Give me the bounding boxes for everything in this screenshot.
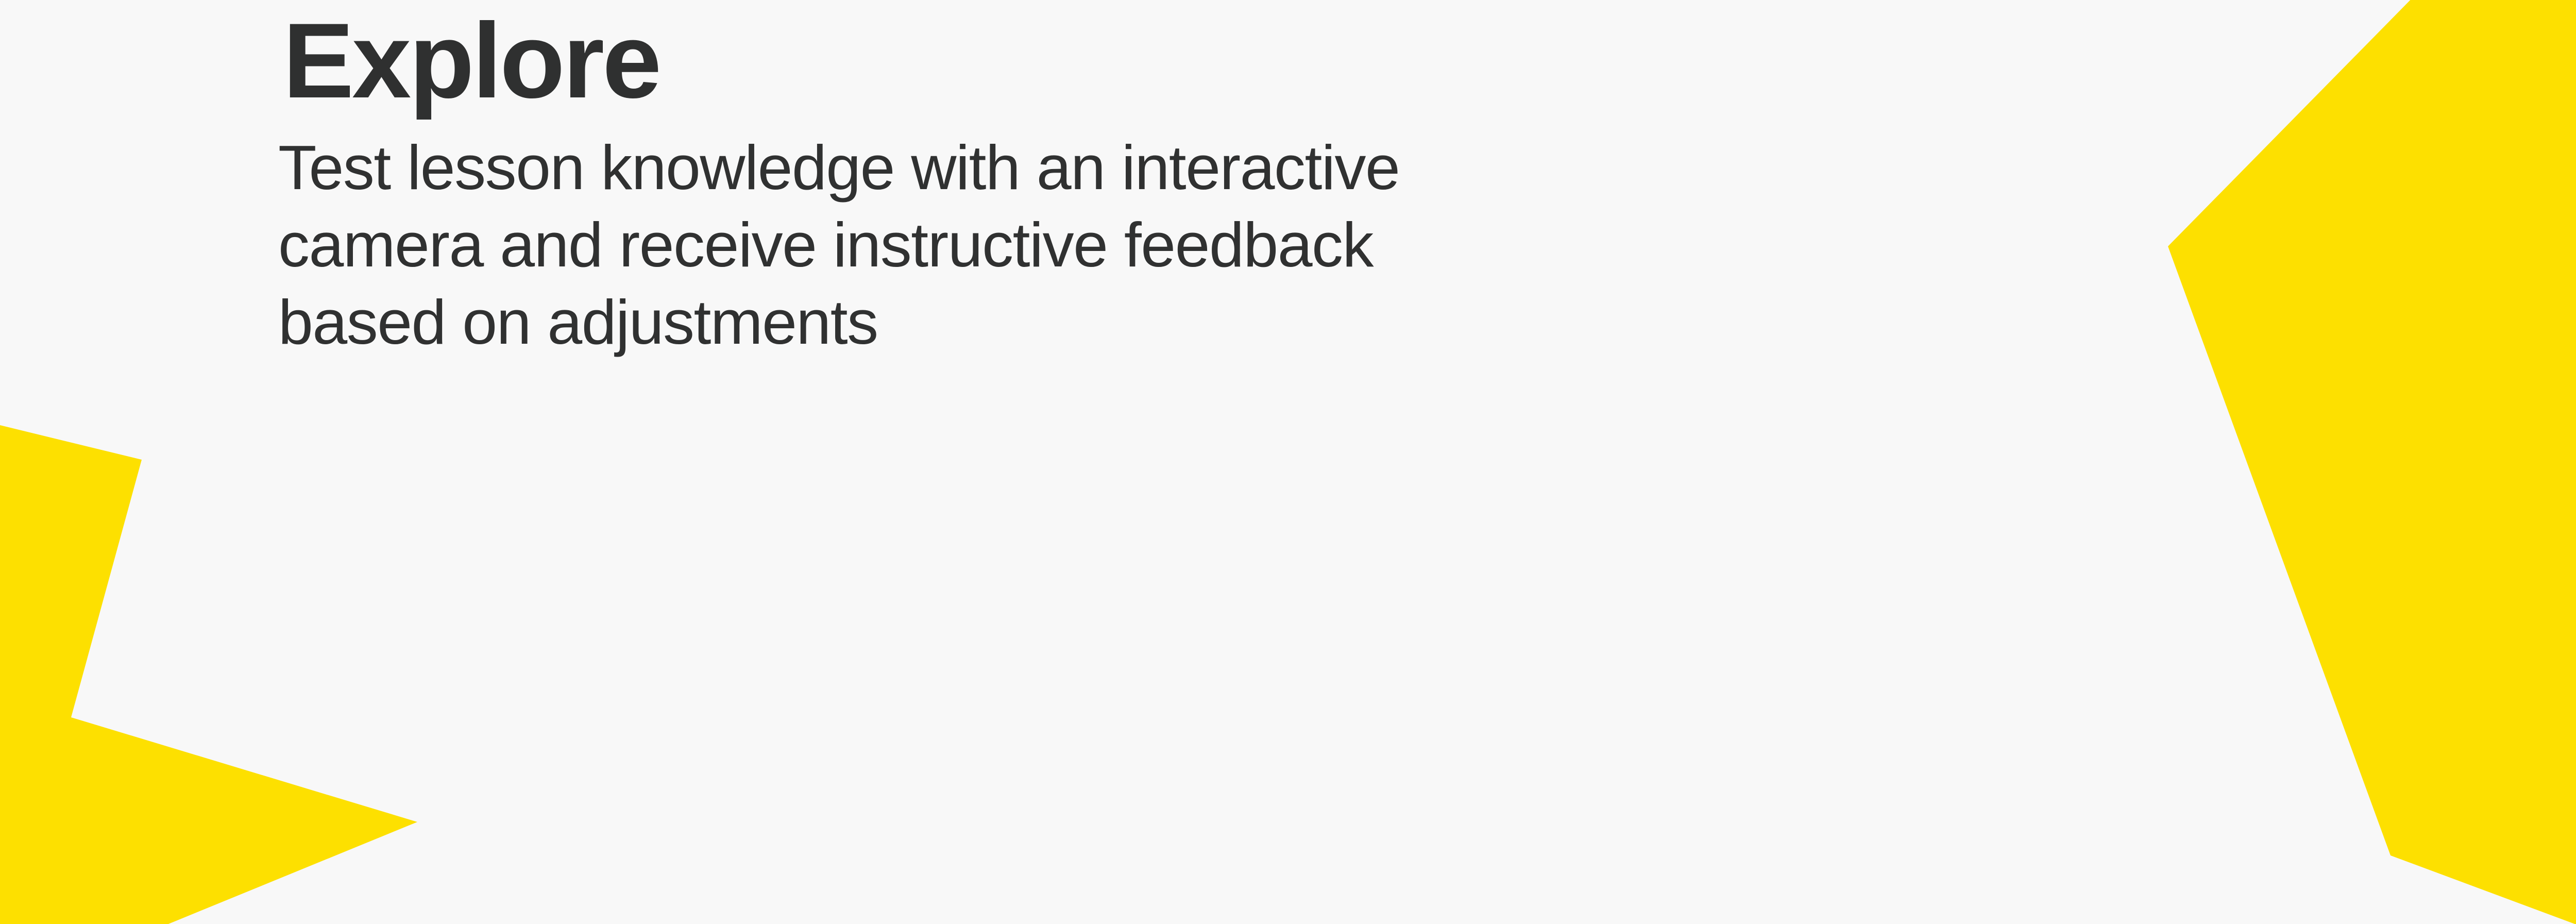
page-title: Explore bbox=[283, 7, 659, 114]
star-left-icon bbox=[0, 330, 417, 924]
star-right-icon bbox=[2168, 0, 2576, 924]
explore-banner: Explore Test lesson knowledge with an in… bbox=[0, 0, 2576, 924]
page-subtitle: Test lesson knowledge with an interactiv… bbox=[278, 129, 1473, 361]
